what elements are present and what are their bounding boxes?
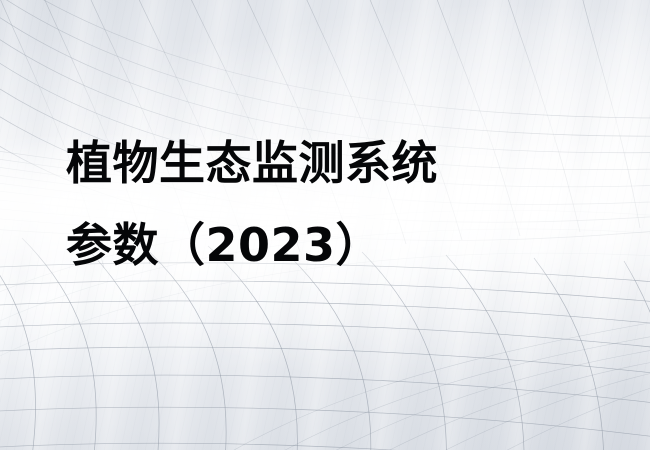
- slide-title-line-1: 植物生态监测系统: [66, 122, 606, 204]
- presentation-slide: 植物生态监测系统 参数（2023）: [0, 0, 650, 450]
- slide-title-block: 植物生态监测系统 参数（2023）: [66, 122, 606, 286]
- slide-title-line-2: 参数（2023）: [66, 204, 606, 286]
